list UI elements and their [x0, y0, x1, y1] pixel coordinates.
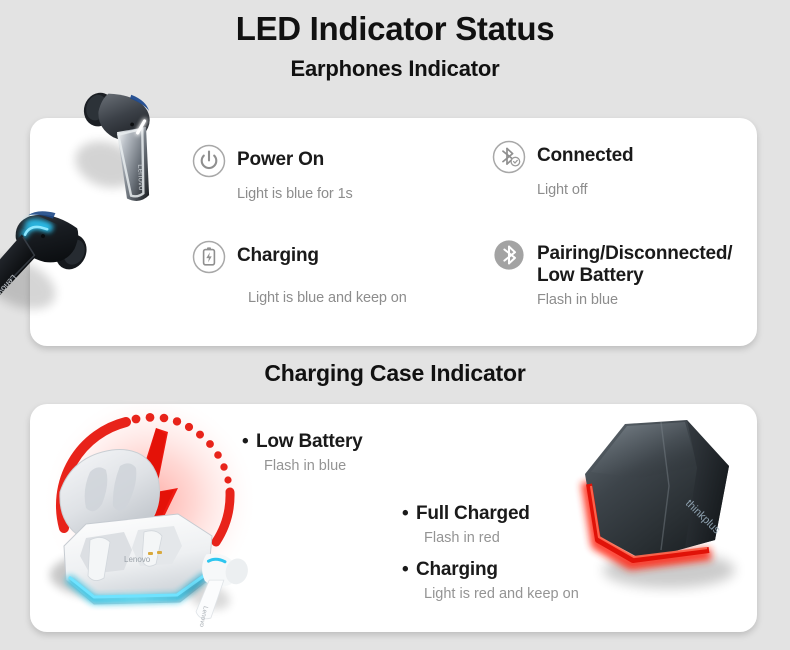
bullet-description: Flash in blue: [264, 458, 363, 474]
svg-text:Lenovo: Lenovo: [0, 273, 19, 301]
indicator-row-charging: Charging Light is blue and keep on: [192, 240, 407, 306]
indicator-description: Light off: [537, 182, 633, 198]
indicator-title: Pairing/Disconnected/ Low Battery: [537, 238, 732, 288]
indicator-title: Connected: [537, 140, 633, 167]
battery-charging-icon: [192, 240, 226, 274]
earphones-section-subtitle: Earphones Indicator: [0, 56, 790, 82]
indicator-row-connected: Connected Light off: [492, 140, 633, 198]
indicator-description: Flash in blue: [537, 292, 732, 308]
bullet-title: Low Battery: [242, 431, 363, 453]
bluetooth-icon: [492, 238, 526, 272]
indicator-title-line-2: Low Battery: [537, 265, 644, 286]
indicator-title: Power On: [237, 144, 324, 171]
indicator-heading: Charging: [192, 240, 407, 274]
bullet-item-charging: Charging Light is red and keep on: [402, 559, 579, 602]
earphones-indicator-card: Power On Light is blue for 1s: [30, 118, 757, 346]
charging-case-indicator-card: Low Battery Flash in blue Full Charged F…: [30, 404, 757, 632]
bullet-description: Light is red and keep on: [424, 586, 579, 602]
indicator-heading: Connected: [492, 140, 633, 174]
bullet-item-low-battery: Low Battery Flash in blue: [242, 431, 363, 474]
indicator-title: Charging: [237, 240, 319, 267]
indicator-heading: Pairing/Disconnected/ Low Battery: [492, 238, 732, 288]
charging-case-section-subtitle: Charging Case Indicator: [0, 360, 790, 387]
indicator-row-power-on: Power On Light is blue for 1s: [192, 144, 353, 202]
bullet-description: Flash in red: [424, 530, 530, 546]
indicator-row-pairing-disconnected: Pairing/Disconnected/ Low Battery Flash …: [492, 238, 732, 308]
power-icon: [192, 144, 226, 178]
bluetooth-connected-icon: [492, 140, 526, 174]
bullet-item-full-charged: Full Charged Flash in red: [402, 503, 530, 546]
bullet-title: Full Charged: [402, 503, 530, 525]
indicator-description: Light is blue and keep on: [248, 290, 407, 306]
indicator-title-line-1: Pairing/Disconnected/: [537, 243, 732, 264]
earphones-indicator-grid: Power On Light is blue for 1s: [30, 118, 757, 346]
indicator-description: Light is blue for 1s: [237, 186, 353, 202]
page-title: LED Indicator Status: [0, 0, 790, 47]
bullet-title: Charging: [402, 559, 579, 581]
indicator-heading: Power On: [192, 144, 353, 178]
